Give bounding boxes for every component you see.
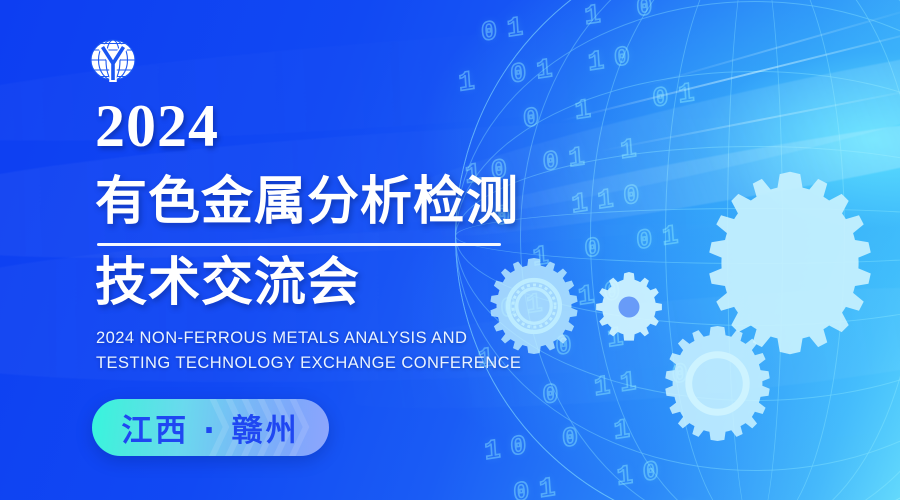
bottom-gear — [660, 326, 775, 441]
title-line-2: 技术交流会 — [95, 255, 360, 311]
subtitle-english: 2024 NON-FERROUS METALS ANALYSIS AND TES… — [96, 326, 526, 376]
location-badge-label: 江西 · 赣州 — [121, 405, 299, 450]
subtitle-line-2: TESTING TECHNOLOGY EXCHANGE CONFERENCE — [96, 351, 526, 376]
title-divider — [97, 243, 501, 246]
title-line-1: 有色金属分析检测 — [95, 174, 519, 230]
globe-y-logo — [88, 37, 138, 85]
subtitle-line-1: 2024 NON-FERROUS METALS ANALYSIS AND — [96, 326, 526, 351]
small-gear — [594, 272, 664, 342]
banner-content: 2024 有色金属分析检测 技术交流会 2024 NON-FERROUS MET… — [0, 0, 560, 500]
location-badge: 江西 · 赣州 — [92, 399, 329, 456]
conference-banner: 01 1 01 01 100 1 0110 01 10 1101 0 0101 … — [0, 0, 900, 500]
year-heading: 2024 — [95, 96, 219, 156]
